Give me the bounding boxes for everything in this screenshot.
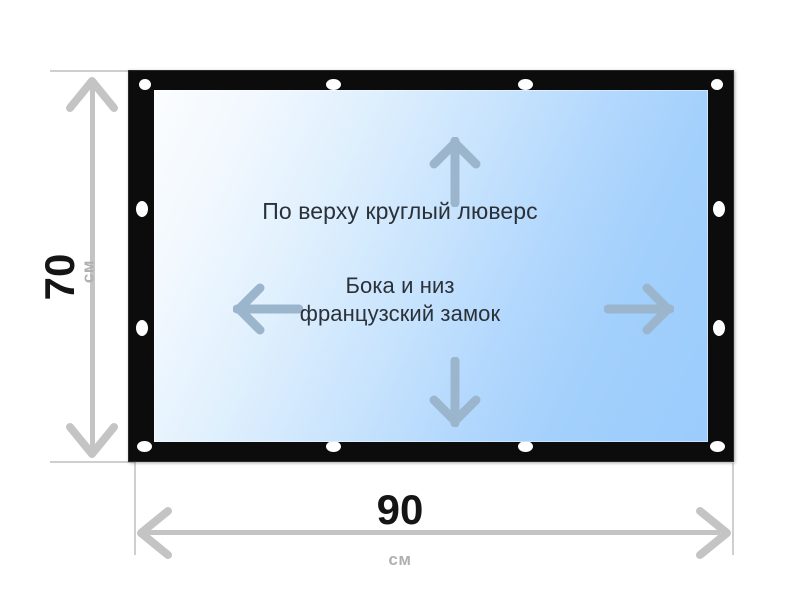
grommet-bottom-1 bbox=[137, 441, 152, 452]
grommet-top-1 bbox=[139, 79, 151, 90]
label-top-grommet: По верху круглый люверс bbox=[0, 197, 800, 226]
grommet-bottom-4 bbox=[710, 441, 725, 452]
grommet-bottom-3 bbox=[518, 441, 533, 452]
diagram-canvas: По верху круглый люверс Бока и низ франц… bbox=[0, 0, 800, 600]
extension-line-top-left bbox=[50, 70, 136, 72]
width-value: 90 bbox=[0, 489, 800, 531]
product-panel bbox=[128, 70, 734, 462]
grommet-top-4 bbox=[711, 79, 723, 90]
grommet-top-3 bbox=[518, 79, 533, 90]
height-value: 70 bbox=[39, 197, 81, 357]
grommet-bottom-2 bbox=[326, 441, 341, 452]
label-sides-bottom-lock: Бока и низ французский замок bbox=[0, 272, 800, 328]
height-unit: см bbox=[80, 242, 97, 302]
width-unit: см bbox=[0, 551, 800, 568]
fabric-area bbox=[154, 90, 708, 442]
height-arrow-down-icon bbox=[64, 421, 120, 461]
height-arrow-up-icon bbox=[64, 74, 120, 114]
extension-line-bottom-left bbox=[50, 461, 136, 463]
arrow-down-icon bbox=[428, 357, 482, 427]
grommet-top-2 bbox=[326, 79, 341, 90]
